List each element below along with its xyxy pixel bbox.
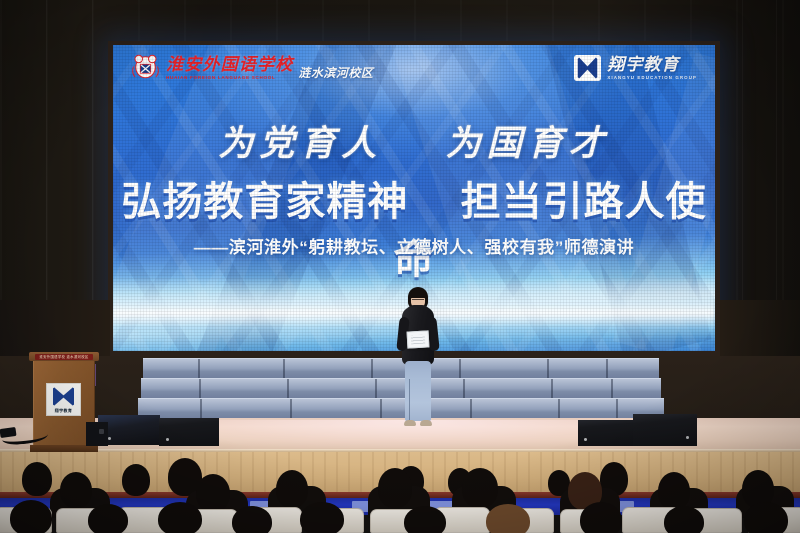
school-name-cn: 淮安外国语学校: [166, 56, 293, 73]
education-group-logo: 翔宇教育 XIANGYU EDUCATION GROUP: [574, 55, 697, 81]
podium-plate-text: 翔宇教育: [55, 408, 73, 414]
auditorium-scene: 淮安外国语学校 HUAIAN FOREIGN LANGUAGE SCHOOL 涟…: [0, 0, 800, 533]
speaker-on-stage: [396, 287, 440, 435]
podium-sign-text: 淮安外国语学校 涟水滨河校区: [35, 354, 93, 360]
podium-sign: 淮安外国语学校 涟水滨河校区: [35, 354, 93, 360]
group-name-en: XIANGYU EDUCATION GROUP: [607, 75, 697, 80]
seated-audience: [0, 452, 800, 533]
school-crest-icon: [130, 53, 161, 83]
stage-monitor-right-1: [578, 420, 636, 446]
stage-monitor-right-2: [633, 414, 697, 446]
slogan-2a: 弘扬教育家精神: [121, 180, 408, 224]
glasses-icon: [412, 299, 424, 302]
podium-logo-plate: 翔宇教育: [46, 383, 81, 416]
slogan-1a: 为党育人: [218, 124, 382, 163]
event-subtitle: ——滨河淮外“躬耕教坛、立德树人、强校有我”师德演讲: [113, 233, 715, 258]
speech-script-paper: [407, 330, 430, 348]
slogan-line-1: 为党育人 为国育才: [113, 115, 715, 166]
slogan-2b: 担当引路人使命: [394, 180, 707, 282]
xiangyu-x-logo-icon: [574, 55, 601, 81]
campus-name-cn: 涟水滨河校区: [298, 67, 373, 79]
slogan-line-2: 弘扬教育家精神 担当引路人使命: [113, 169, 715, 285]
xiangyu-x-logo-icon: [50, 386, 77, 407]
stage-equipment-box: [86, 422, 108, 446]
stage-monitor-left-2: [159, 418, 219, 446]
group-name-cn: 翔宇教育: [607, 56, 679, 73]
school-name-en: HUAIAN FOREIGN LANGUAGE SCHOOL: [166, 75, 276, 80]
slogan-1b: 为国育才: [446, 124, 610, 163]
school-logo-group: 淮安外国语学校 HUAIAN FOREIGN LANGUAGE SCHOOL 涟…: [130, 53, 373, 83]
